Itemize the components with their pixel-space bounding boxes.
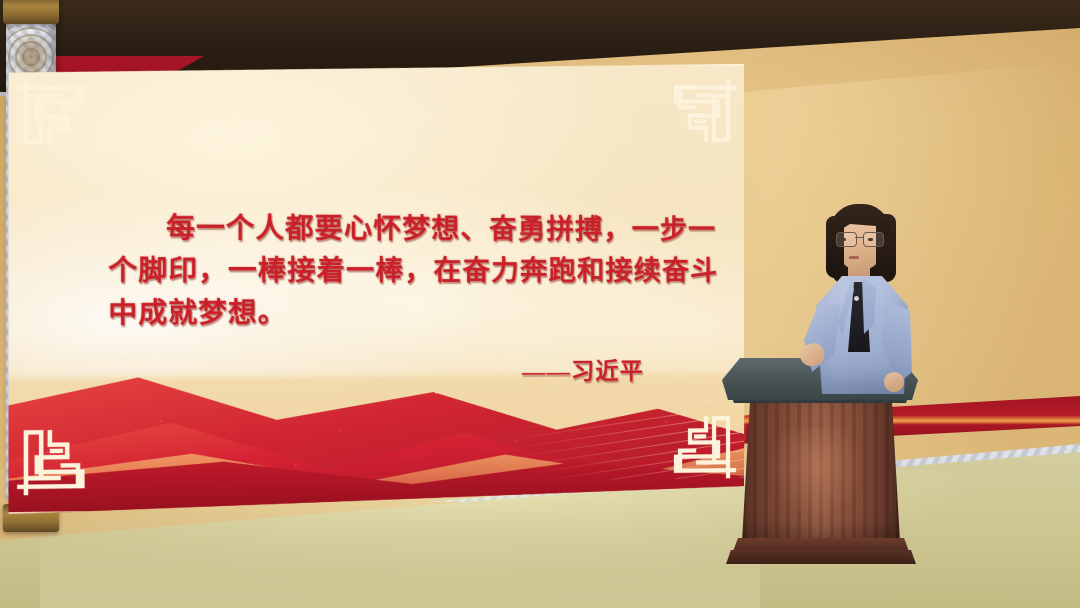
presenter-figure	[786, 196, 936, 396]
presenter-mouth	[849, 256, 859, 259]
quote-line-2: 个脚印，一棒接着一棒，在奋力奔跑和接续奋斗	[108, 250, 660, 293]
led-display-screen[interactable]: 每一个人都要心怀梦想、奋勇拼搏，一步一 个脚印，一棒接着一棒，在奋力奔跑和接续奋…	[9, 54, 744, 514]
quote-attribution: ——习近平	[108, 351, 660, 389]
lapel-microphone-icon	[854, 296, 859, 301]
presenter-hand-right	[884, 372, 904, 392]
quotation-block: 每一个人都要心怀梦想、奋勇拼搏，一步一 个脚印，一棒接着一棒，在奋力奔跑和接续奋…	[108, 207, 660, 389]
quote-line-3: 中成就梦想。	[108, 292, 660, 335]
glasses-icon	[836, 232, 884, 246]
lectern-body	[742, 402, 900, 542]
column-cap-top	[3, 0, 59, 24]
quote-line-1: 每一个人都要心怀梦想、奋勇拼搏，一步一	[108, 207, 660, 251]
studio-scene: 每一个人都要心怀梦想、奋勇拼搏，一步一 个脚印，一棒接着一棒，在奋力奔跑和接续奋…	[0, 0, 1080, 608]
lectern-base-lower	[726, 550, 916, 564]
